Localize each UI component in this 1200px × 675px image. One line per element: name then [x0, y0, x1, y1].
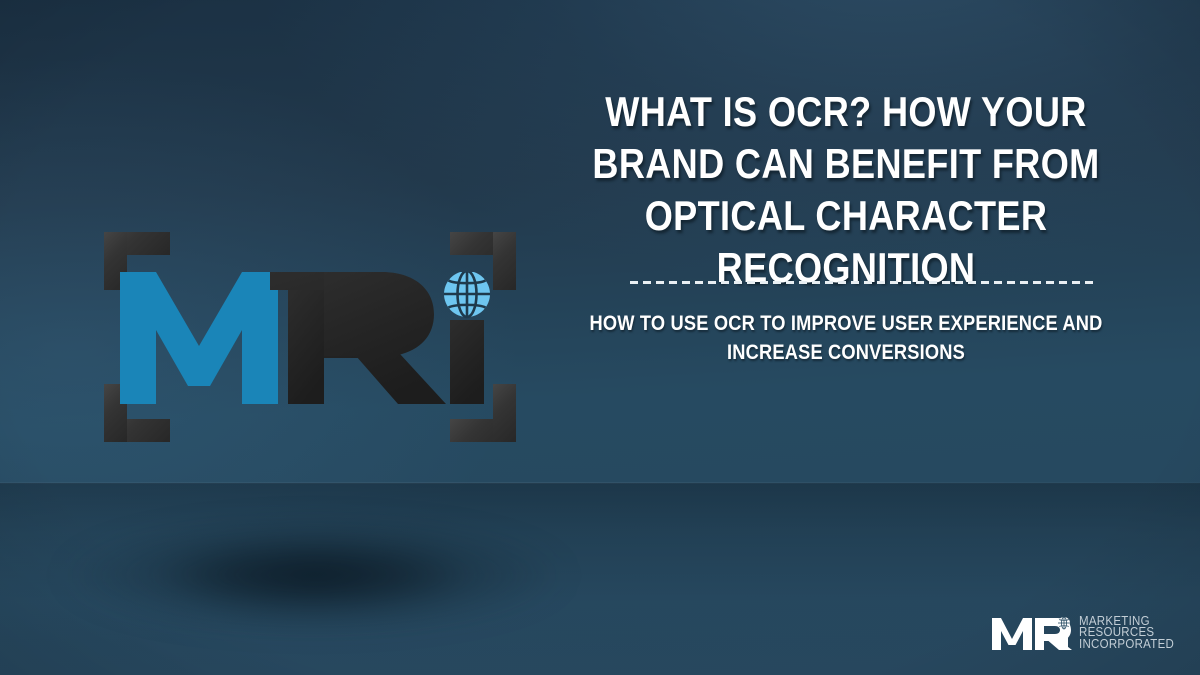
footer-brand-words: Marketing Resources Incorporated	[1079, 616, 1182, 651]
page-subtitle: How to use OCR to improve user experienc…	[569, 309, 1122, 367]
footer-brand-lockup: Marketing Resources Incorporated	[992, 608, 1170, 658]
logo-drop-shadow	[58, 517, 570, 633]
footer-mri-wordmark-icon	[992, 613, 1076, 653]
dashed-divider	[630, 281, 1096, 284]
mri-logo	[104, 232, 516, 442]
headline-block: What is OCR? How your brand can benefit …	[528, 86, 1164, 294]
mri-wordmark-icon	[120, 272, 500, 404]
slide-canvas: What is OCR? How your brand can benefit …	[0, 0, 1200, 675]
globe-icon	[444, 272, 490, 317]
footer-brand-line-3: Incorporated	[1079, 639, 1174, 651]
page-title: What is OCR? How your brand can benefit …	[573, 86, 1120, 294]
